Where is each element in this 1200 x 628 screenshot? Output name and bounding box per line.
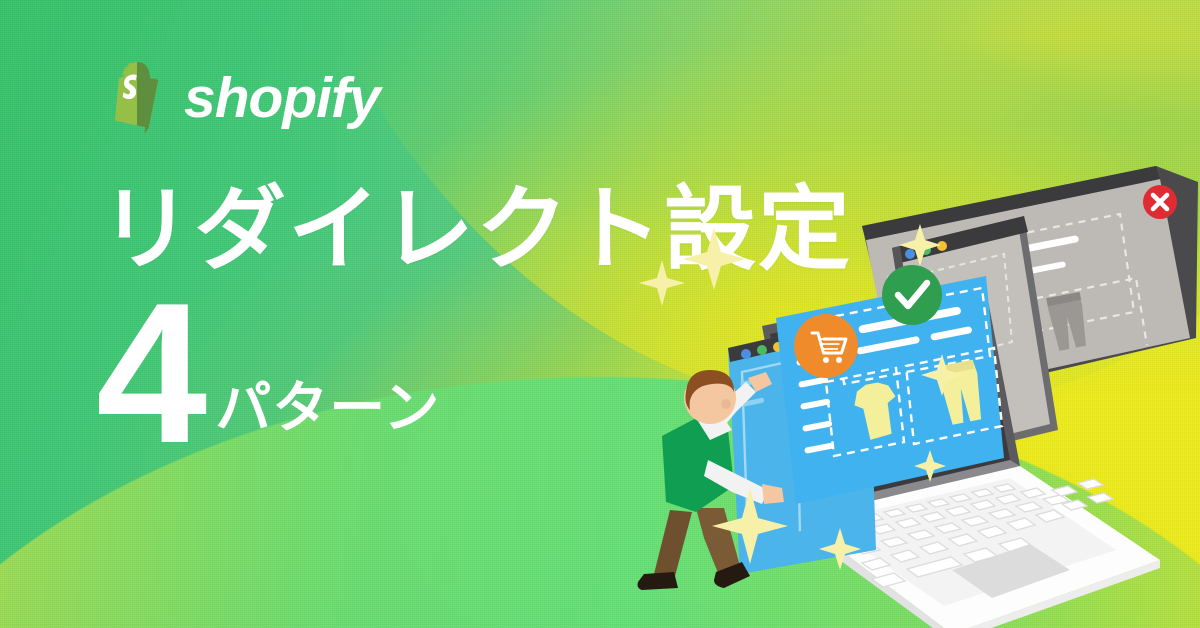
sparkle-icon [639, 260, 685, 306]
headline-number-row: 4 パターン [96, 296, 440, 452]
banner-root: shopify リダイレクト設定 4 パターン [0, 0, 1200, 628]
pattern-count-number: 4 [96, 296, 203, 452]
shopify-logo-lockup: shopify [104, 58, 380, 134]
shopping-cart-icon [794, 314, 858, 378]
shopify-bag-icon [104, 58, 170, 134]
hero-illustration [600, 130, 1200, 628]
check-circle-icon [882, 265, 942, 325]
x-circle-icon [1143, 185, 1177, 219]
sparkle-icon [683, 228, 745, 290]
shopify-wordmark: shopify [184, 70, 380, 127]
pattern-label: パターン [215, 380, 440, 436]
